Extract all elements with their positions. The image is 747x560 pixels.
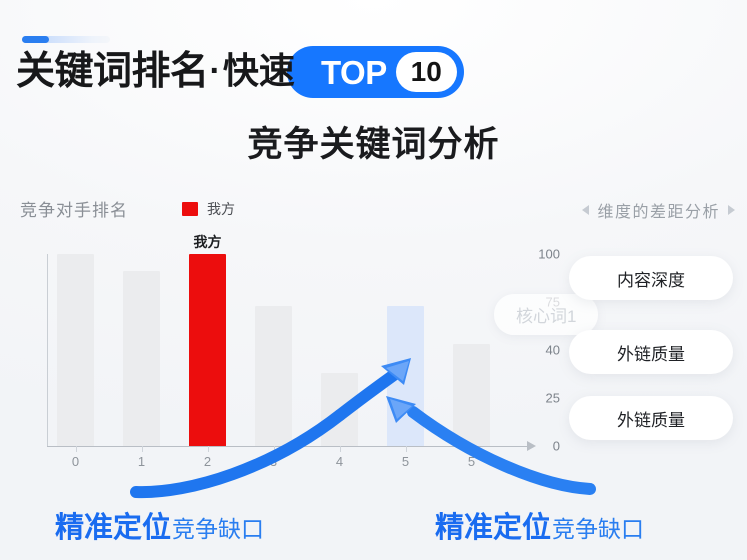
x-axis-tick-label: 4 (336, 454, 343, 469)
x-axis-line (47, 446, 528, 447)
headline-main-text: 关键词排名 (16, 52, 209, 91)
top-badge-number: 10 (411, 58, 442, 86)
callout-right-strong: 精准定位 (435, 504, 551, 546)
bar-value-label: 我方 (194, 232, 222, 252)
callout-right-weak: 竞争缺口 (552, 510, 644, 544)
x-axis-tick-label: 1 (138, 454, 145, 469)
x-axis-tickmark (208, 446, 209, 452)
chart-caption: 竞争对手排名 (20, 196, 128, 221)
bar-chart: 0254075100 我方 0123455 (0, 240, 560, 490)
top-rank-badge: TOP 10 (287, 46, 464, 98)
page-title: 竞争关键词分析 (0, 116, 747, 167)
triangle-left-icon (582, 205, 589, 215)
bar-highlight[interactable] (189, 254, 226, 446)
dimension-card-1[interactable]: 外链质量 (569, 330, 733, 374)
x-axis-tickmark (274, 446, 275, 452)
bar[interactable] (57, 254, 94, 446)
dimension-card-2[interactable]: 外链质量 (569, 396, 733, 440)
y-axis-tick-label: 40 (518, 343, 560, 358)
x-axis-tick-label: 2 (204, 454, 211, 469)
slide-canvas: 关键词排名 · 快速 TOP 10 竞争关键词分析 竞争对手排名 我方 维度的差… (0, 0, 747, 560)
triangle-right-icon (728, 205, 735, 215)
dimension-card-0[interactable]: 内容深度 (569, 256, 733, 300)
chart-legend: 我方 (182, 199, 235, 219)
bar[interactable] (255, 306, 292, 446)
headline-separator-dot: · (209, 54, 222, 88)
bar[interactable] (387, 306, 424, 446)
top-badge-number-circle: 10 (396, 52, 457, 92)
x-axis-tick-label: 5 (468, 454, 475, 469)
dimension-panel-header: 维度的差距分析 (582, 198, 735, 222)
progress-bar-track (22, 36, 110, 43)
callout-left-strong: 精准定位 (55, 504, 171, 546)
y-axis-tick-label: 100 (518, 247, 560, 262)
x-axis-tickmark (340, 446, 341, 452)
legend-swatch-icon (182, 202, 198, 216)
progress-bar-fill (22, 36, 49, 43)
x-axis-tickmark (472, 446, 473, 452)
x-axis-tickmark (406, 446, 407, 452)
headline-fast-text: 快速 (223, 53, 295, 89)
x-axis-tick-label: 0 (72, 454, 79, 469)
x-axis-tick-label: 3 (270, 454, 277, 469)
keyword-pill[interactable]: 核心词1 (494, 294, 598, 335)
bar[interactable] (453, 344, 490, 446)
top-badge-label: TOP (321, 56, 396, 89)
callout-right: 精准定位 竞争缺口 (435, 504, 644, 546)
dimension-panel-title: 维度的差距分析 (597, 198, 720, 222)
bar[interactable] (123, 271, 160, 446)
headline: 关键词排名 · 快速 (16, 44, 295, 98)
callout-left-weak: 竞争缺口 (172, 510, 264, 544)
y-axis-tick-label: 25 (518, 391, 560, 406)
callout-left: 精准定位 竞争缺口 (55, 504, 264, 546)
x-axis-tickmark (76, 446, 77, 452)
x-axis-tick-label: 5 (402, 454, 409, 469)
x-axis-tickmark (142, 446, 143, 452)
y-axis-tick-label: 0 (518, 439, 560, 454)
legend-label: 我方 (207, 199, 235, 219)
bar[interactable] (321, 373, 358, 446)
y-axis-line (47, 254, 48, 446)
